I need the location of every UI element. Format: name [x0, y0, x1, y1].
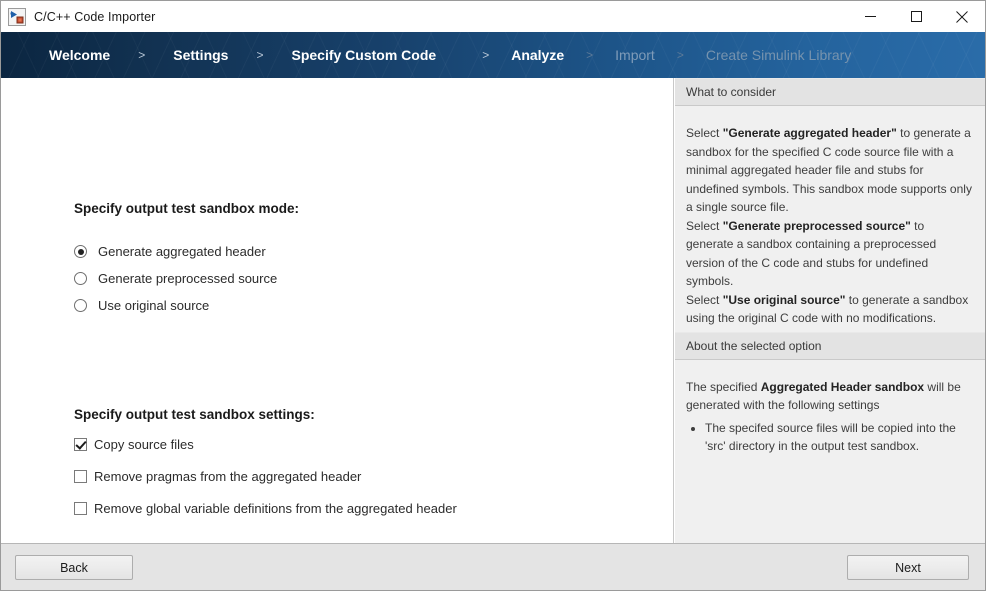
help-section-about-selected-option: About the selected option The specified … — [675, 332, 985, 460]
checkbox-remove-pragmas[interactable]: Remove pragmas from the aggregated heade… — [74, 469, 361, 484]
checkbox-indicator-copy-source-files[interactable] — [74, 438, 87, 451]
title-bar: C/C++ Code Importer — [1, 1, 985, 32]
help-paragraph: Select "Generate preprocessed source" to… — [686, 217, 974, 291]
checkbox-copy-source-files[interactable]: Copy source files — [74, 437, 194, 452]
step-separator-1: > — [138, 48, 145, 62]
minimize-icon — [865, 11, 876, 22]
help-paragraph: The specified Aggregated Header sandbox … — [686, 378, 974, 415]
step-separator-5: > — [677, 48, 684, 62]
radio-indicator-aggregated-header[interactable] — [74, 245, 87, 258]
wizard-footer: Back Next — [1, 543, 985, 590]
help-paragraph: Select "Generate aggregated header" to g… — [686, 124, 974, 217]
step-separator-4: > — [586, 48, 593, 62]
help-text-about-selected-option: The specified Aggregated Header sandbox … — [675, 360, 985, 460]
maximize-icon — [911, 11, 922, 22]
step-separator-2: > — [256, 48, 263, 62]
step-welcome[interactable]: Welcome — [49, 47, 110, 63]
checkbox-indicator-remove-pragmas[interactable] — [74, 470, 87, 483]
radio-indicator-preprocessed-source[interactable] — [74, 272, 87, 285]
step-settings[interactable]: Settings — [173, 47, 228, 63]
help-bullet-item: The specifed source files will be copied… — [705, 419, 974, 456]
help-pane: What to consider Select "Generate aggreg… — [674, 78, 985, 543]
help-section-what-to-consider: What to consider Select "Generate aggreg… — [675, 78, 985, 332]
radio-label-aggregated-header: Generate aggregated header — [98, 244, 266, 259]
wizard-step-banner: Welcome > Settings > Specify Custom Code… — [1, 32, 985, 78]
step-import: Import — [615, 47, 655, 63]
app-window: C/C++ Code Importer Welcome — [0, 0, 986, 591]
simulink-importer-icon — [8, 8, 26, 26]
window-title: C/C++ Code Importer — [34, 10, 155, 24]
back-button[interactable]: Back — [15, 555, 133, 580]
checkbox-remove-global-variables[interactable]: Remove global variable definitions from … — [74, 501, 457, 516]
step-create-simulink-library: Create Simulink Library — [706, 47, 852, 63]
step-specify-custom-code[interactable]: Specify Custom Code — [291, 47, 436, 63]
next-button[interactable]: Next — [847, 555, 969, 580]
radio-use-original-source[interactable]: Use original source — [74, 298, 209, 313]
help-pane-filler — [675, 460, 985, 544]
close-button[interactable] — [939, 1, 985, 32]
step-separator-3: > — [482, 48, 489, 62]
radio-label-original-source: Use original source — [98, 298, 209, 313]
radio-generate-aggregated-header[interactable]: Generate aggregated header — [74, 244, 266, 259]
sandbox-settings-heading: Specify output test sandbox settings: — [74, 407, 315, 422]
settings-pane: Specify output test sandbox mode: Genera… — [1, 78, 674, 543]
help-paragraph: Select "Use original source" to generate… — [686, 291, 974, 328]
checkbox-label-copy-source-files: Copy source files — [94, 437, 194, 452]
checkbox-label-remove-pragmas: Remove pragmas from the aggregated heade… — [94, 469, 361, 484]
checkbox-indicator-remove-global-variables[interactable] — [74, 502, 87, 515]
radio-indicator-original-source[interactable] — [74, 299, 87, 312]
help-text-what-to-consider: Select "Generate aggregated header" to g… — [675, 106, 985, 332]
checkbox-label-remove-global-variables: Remove global variable definitions from … — [94, 501, 457, 516]
step-analyze[interactable]: Analyze — [511, 47, 564, 63]
help-header-about-selected-option: About the selected option — [675, 332, 985, 360]
sandbox-mode-heading: Specify output test sandbox mode: — [74, 201, 299, 216]
minimize-button[interactable] — [847, 1, 893, 32]
body-area: Specify output test sandbox mode: Genera… — [1, 78, 985, 543]
close-icon — [956, 11, 968, 23]
radio-generate-preprocessed-source[interactable]: Generate preprocessed source — [74, 271, 277, 286]
caption-button-group — [847, 1, 985, 32]
maximize-button[interactable] — [893, 1, 939, 32]
radio-label-preprocessed-source: Generate preprocessed source — [98, 271, 277, 286]
wizard-steps: Welcome > Settings > Specify Custom Code… — [1, 47, 851, 63]
help-bullet-list: The specifed source files will be copied… — [686, 419, 974, 456]
help-header-what-to-consider: What to consider — [675, 78, 985, 106]
